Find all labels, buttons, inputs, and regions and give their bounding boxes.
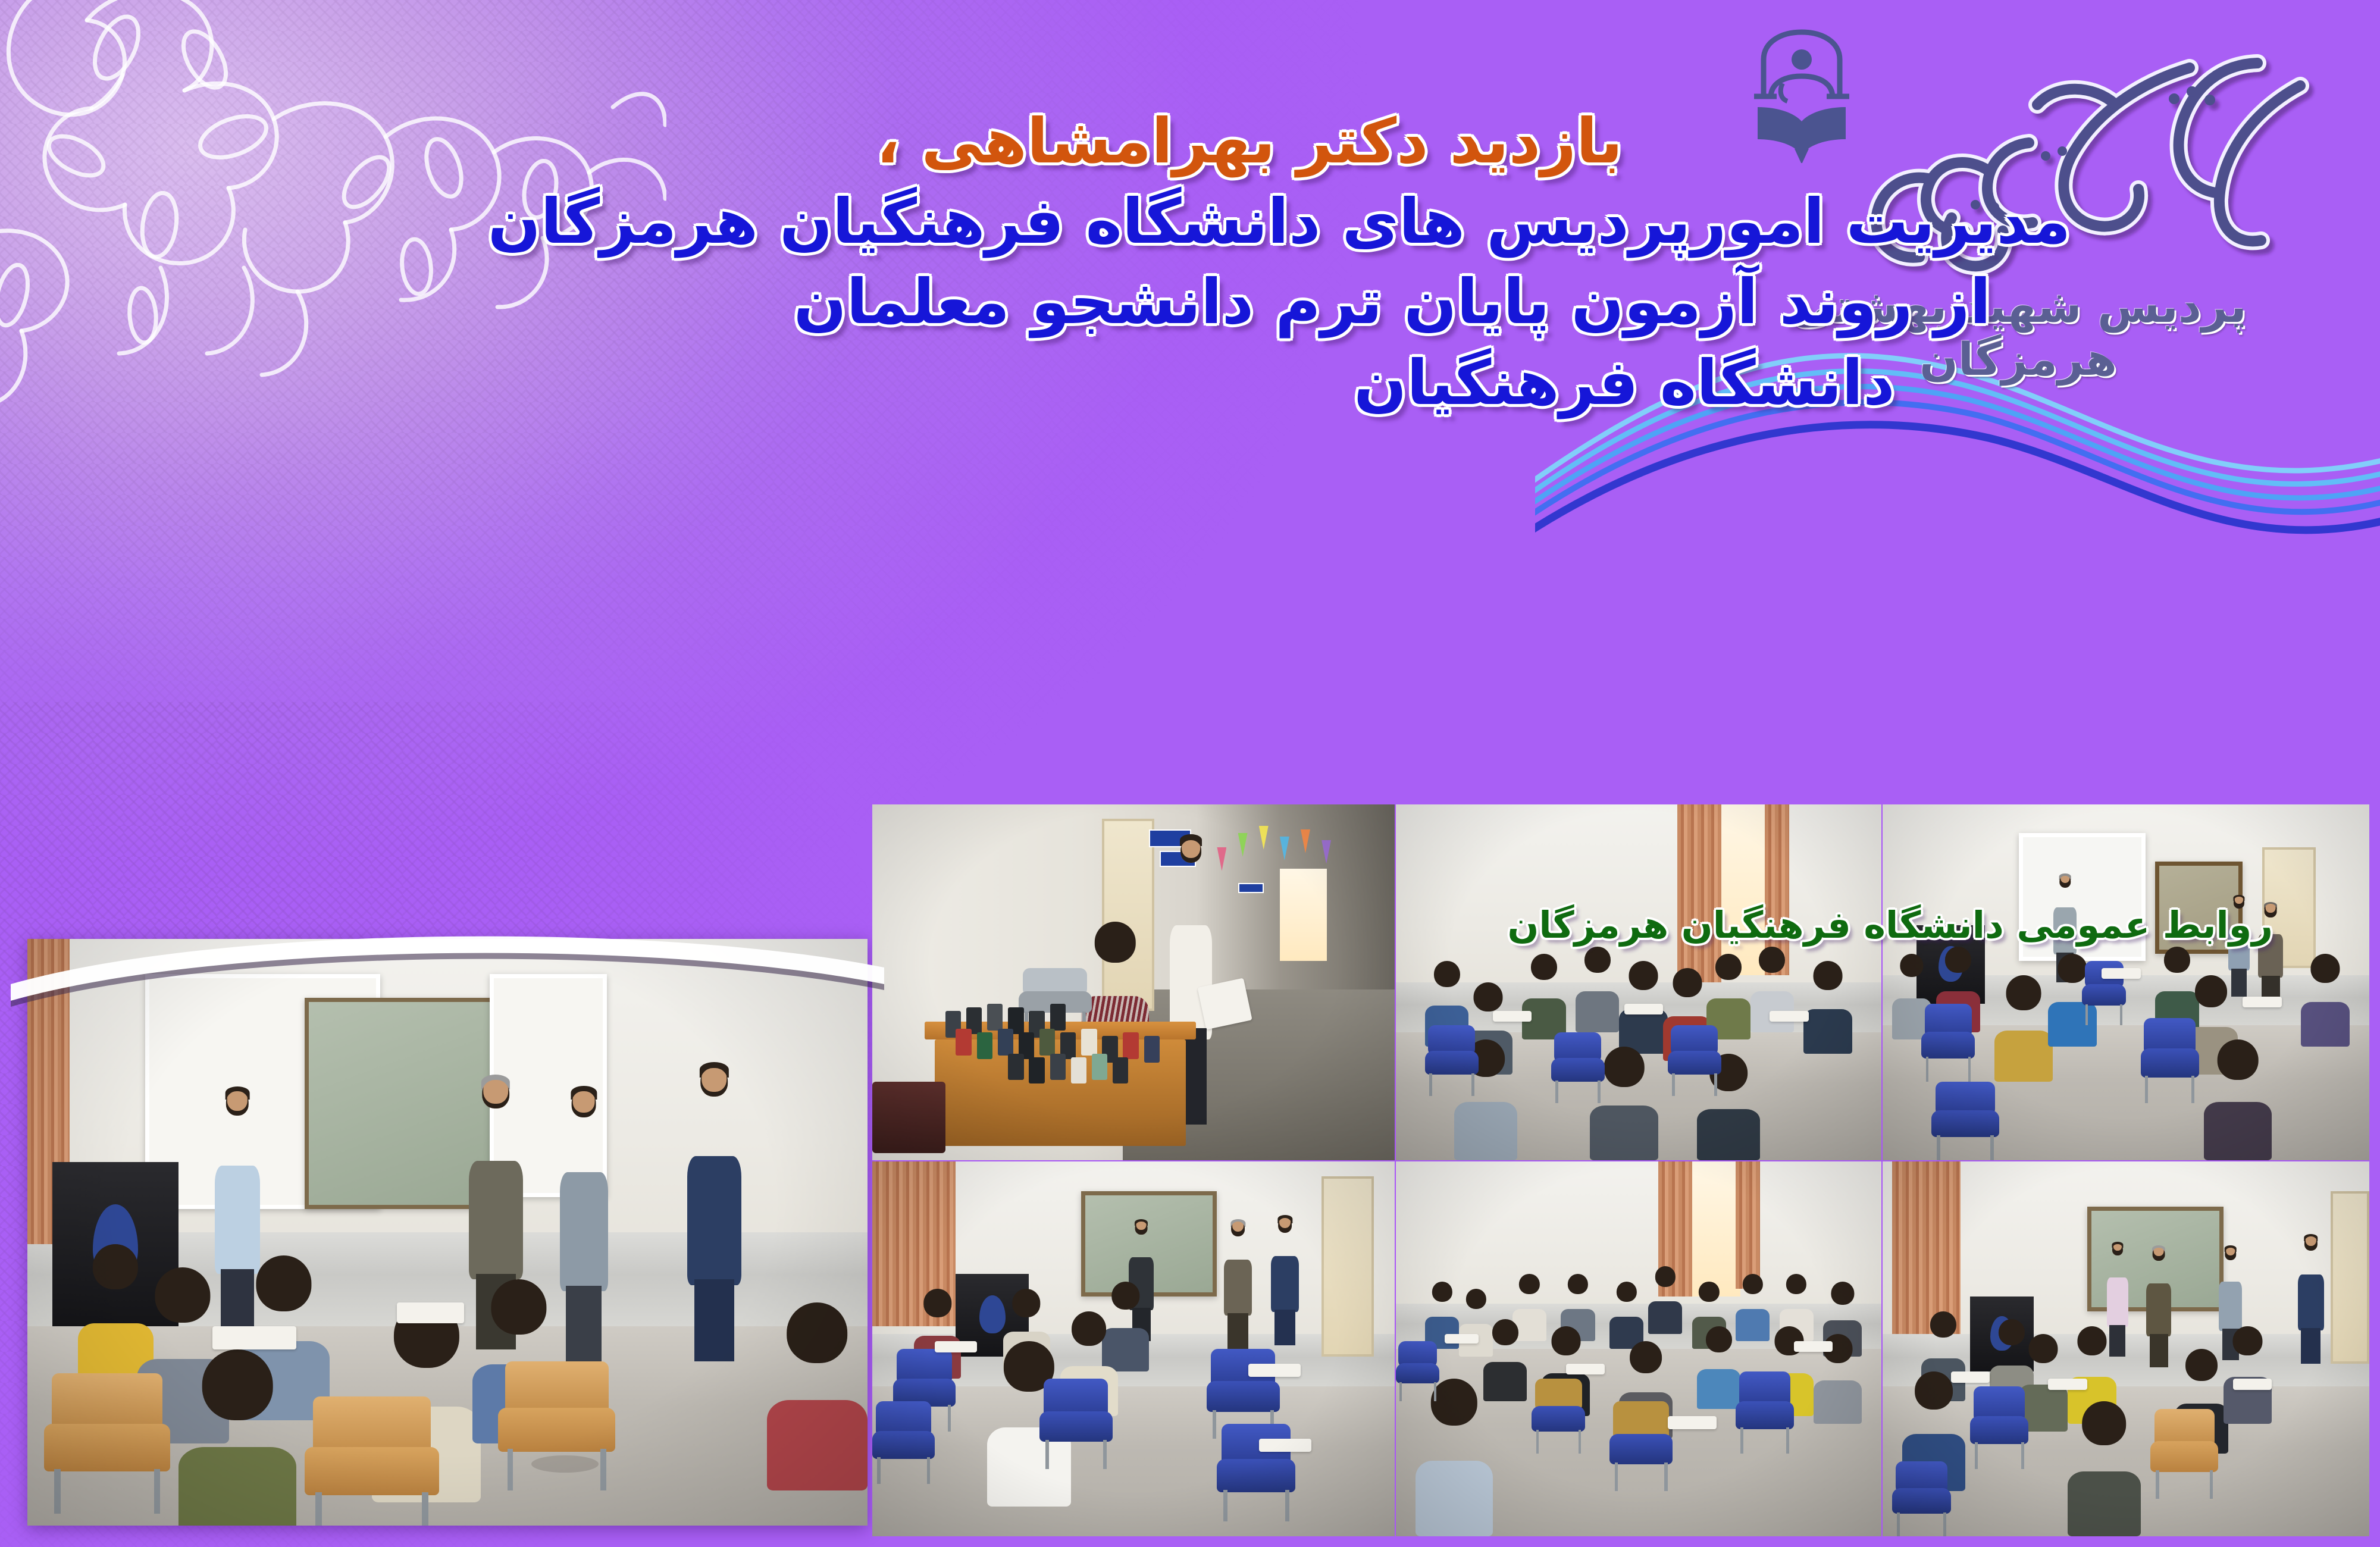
headline-line-1: بازدید دکتر بهرامشاهی ، [440, 101, 2059, 181]
headline-block: بازدید دکتر بهرامشاهی ، مدیریت امورپردیس… [440, 101, 2011, 423]
photo-corridor-mobile-phone-collection [872, 804, 1395, 1160]
photo-classroom-visit-officials-main [27, 939, 868, 1526]
headline-line-4: دانشگاه فرهنگیان [440, 343, 2380, 423]
headline-line-3: از روند آزمون پایان ترم دانشجو معلمان [440, 262, 2344, 342]
poster-canvas: پردیس شهید بهشتی هرمزگان بازدید دکتر بهر… [0, 0, 2380, 1547]
headline-line-2: مدیریت امورپردیس های دانشگاه فرهنگیان هر… [440, 181, 2118, 262]
photo-exam-hall-window-row [1396, 804, 1881, 1160]
photo-exam-hall-whiteboard-proctor [1883, 804, 2369, 1160]
photo-exam-room-wide-rows [1396, 1161, 1881, 1536]
main-photo-frame [11, 929, 884, 1535]
public-relations-credit: روابط عمومی دانشگاه فرهنگیان هرمزگان [1507, 903, 2273, 947]
photo-exam-room-greenboard-visitors [1883, 1161, 2369, 1536]
photo-exam-room-officials-standing [872, 1161, 1395, 1536]
